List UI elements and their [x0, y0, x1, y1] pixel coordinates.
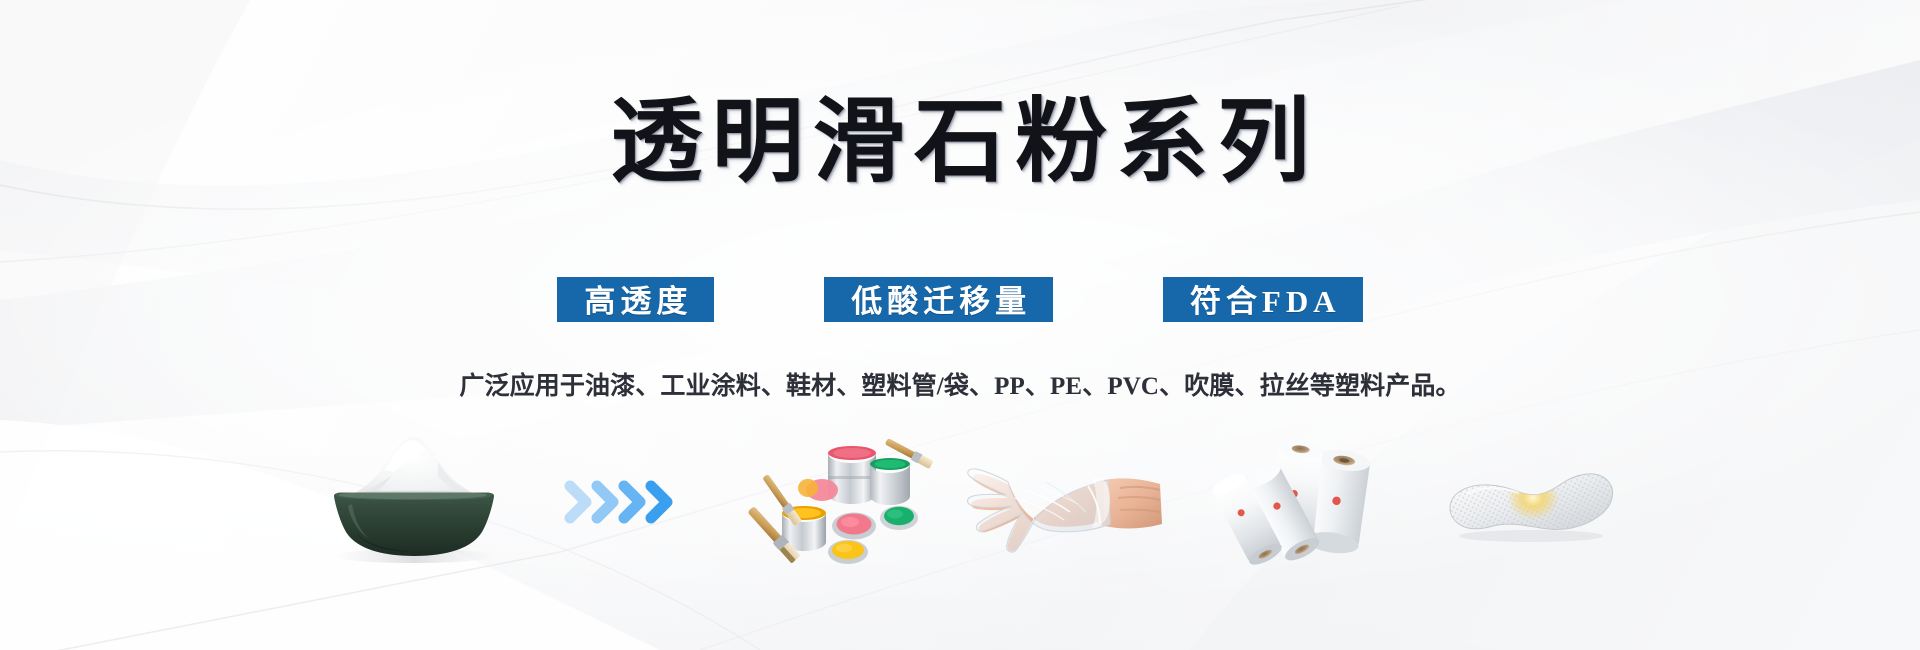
page-title: 透明滑石粉系列 [0, 96, 1920, 188]
applications-subtitle: 广泛应用于油漆、工业涂料、鞋材、塑料管/袋、PP、PE、PVC、吹膜、拉丝等塑料… [0, 371, 1920, 404]
plastic-glove-image [964, 432, 1164, 572]
product-application-strip [0, 432, 1920, 572]
feature-badge-row: 高透度 低酸迁移量 符合FDA [0, 277, 1920, 322]
promo-banner: 透明滑石粉系列 高透度 低酸迁移量 符合FDA 广泛应用于油漆、工业涂料、鞋材、… [0, 0, 1920, 650]
badge-high-transparency[interactable]: 高透度 [557, 277, 714, 322]
shoe-sole-image [1437, 432, 1622, 572]
process-arrows-icon [564, 432, 684, 572]
talc-powder-bowl-image [298, 432, 528, 572]
badge-low-acid-migration[interactable]: 低酸迁移量 [824, 277, 1053, 322]
paint-cans-image [720, 432, 920, 572]
badge-fda-compliant[interactable]: 符合FDA [1163, 277, 1362, 322]
film-rolls-image [1208, 432, 1393, 572]
